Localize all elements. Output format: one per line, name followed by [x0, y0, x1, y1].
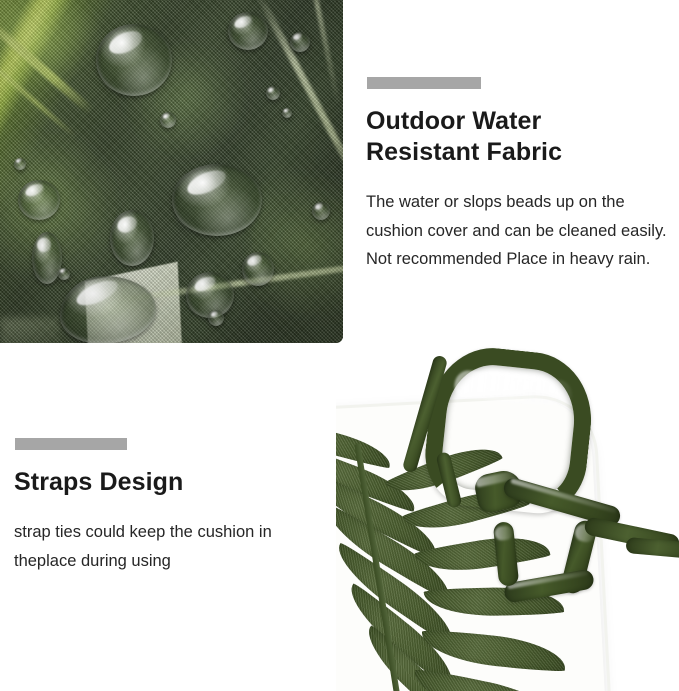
accent-bar-water-resistant — [367, 77, 481, 89]
feature-title-straps-design: Straps Design — [14, 467, 314, 498]
feature-title-water-resistant: Outdoor Water Resistant Fabric — [366, 106, 666, 168]
cushion-strap-photo — [336, 344, 679, 691]
water-resistant-fabric-photo — [0, 0, 343, 343]
fabric-light-zone — [0, 130, 120, 280]
feature-body-straps-design: strap ties could keep the cushion in the… — [14, 518, 314, 575]
strap-ribbon-end — [625, 537, 679, 559]
feature-body-water-resistant: The water or slops beads up on the cushi… — [366, 188, 678, 274]
fabric-light-zone — [250, 170, 343, 320]
fabric-pale-patch — [0, 318, 60, 343]
accent-bar-straps-design — [15, 438, 127, 450]
fabric-light-zone — [120, 40, 250, 160]
product-feature-infographic: Outdoor Water Resistant Fabric The water… — [0, 0, 679, 691]
